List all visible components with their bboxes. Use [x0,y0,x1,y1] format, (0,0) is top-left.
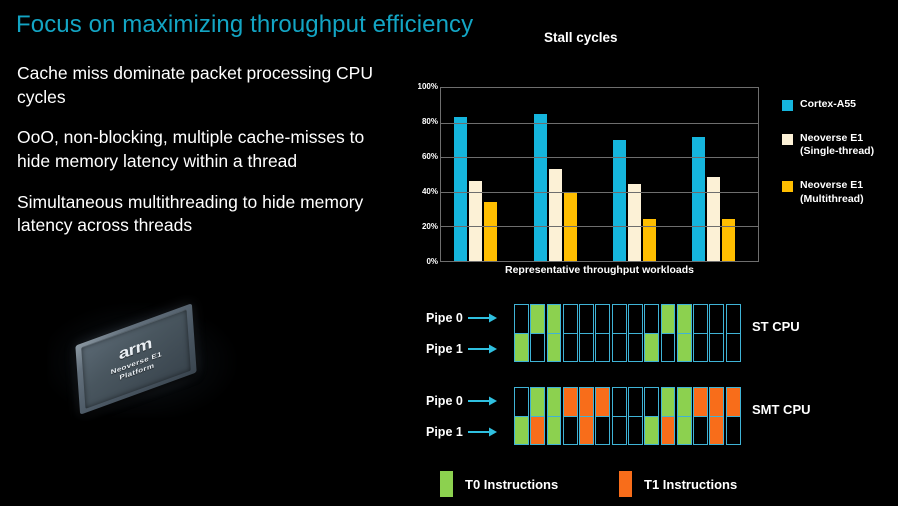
legend-label: Neoverse E1 (Multithread) [800,179,864,205]
pipeline-cell-pipe1 [564,334,577,362]
chart-y-tick-label: 100% [404,82,438,91]
pipeline-cell-column [628,387,643,445]
st-pipe1-label-row: Pipe 1 [426,333,512,364]
pipe-label: Pipe 0 [426,394,463,408]
chart-y-axis: 0%20%40%60%80%100% [404,87,438,262]
pipeline-cell-column [726,387,741,445]
chart-y-tick-label: 40% [404,187,438,196]
pipeline-cell-pipe0 [678,305,691,334]
bullet-item: Cache miss dominate packet processing CP… [17,62,389,109]
pipeline-cell-pipe1 [564,417,577,445]
pipeline-cell-pipe0 [629,305,642,334]
chart-bar [484,202,497,261]
pipeline-cell-pipe0 [727,305,740,334]
pipeline-cell-pipe0 [629,388,642,417]
pipeline-cell-pipe1 [710,334,723,362]
chart-bar [469,181,482,261]
smt-cpu-tag: SMT CPU [752,402,811,417]
chart-bar-group [520,88,599,261]
legend-label-line2: (Multithread) [800,193,864,206]
pipeline-cell-pipe1 [531,334,544,362]
pipeline-cell-pipe1 [629,334,642,362]
chart-legend: Cortex-A55 Neoverse E1 (Single-thread) N… [782,98,898,227]
pipeline-legend-item-t1: T1 Instructions [619,468,737,500]
pipeline-cell-pipe0 [727,388,740,417]
st-pipe-labels: Pipe 0 Pipe 1 [426,302,512,364]
pipeline-cell-column [514,304,529,362]
pipeline-cell-column [628,304,643,362]
chart-gridline [441,226,758,227]
legend-swatch-icon [619,471,632,497]
bullet-item: OoO, non-blocking, multiple cache-misses… [17,126,389,173]
pipeline-cell-column [709,387,724,445]
pipeline-cell-column [693,387,708,445]
pipeline-cell-pipe0 [515,388,528,417]
legend-label-line1: Neoverse E1 [800,179,864,192]
pipeline-cell-column [644,387,659,445]
chart-y-tick-label: 60% [404,152,438,161]
legend-label: Cortex-A55 [800,98,856,111]
pipeline-cell-column [579,304,594,362]
pipeline-diagrams: Pipe 0 Pipe 1 ST CPU Pipe 0 [404,296,898,461]
pipeline-cell-column [563,387,578,445]
pipeline-cell-pipe1 [645,334,658,362]
arrow-right-icon [468,343,498,355]
pipeline-cell-column [563,304,578,362]
chart-title: Stall cycles [544,30,618,45]
legend-label-line2: (Single-thread) [800,145,874,158]
pipe-label: Pipe 1 [426,342,463,356]
pipeline-cell-pipe1 [710,417,723,445]
smt-pipe1-label-row: Pipe 1 [426,416,512,447]
pipeline-cell-pipe1 [580,334,593,362]
pipeline-cell-pipe0 [531,305,544,334]
pipeline-cell-column [595,387,610,445]
pipeline-cell-pipe1 [727,334,740,362]
smt-cpu-pipeline: Pipe 0 Pipe 1 SMT CPU [404,385,898,447]
chart-bar-group [600,88,679,261]
pipeline-cell-pipe0 [548,388,561,417]
pipeline-cell-pipe0 [531,388,544,417]
pipeline-legend: T0 Instructions T1 Instructions [404,468,898,500]
pipeline-cell-pipe1 [580,417,593,445]
pipeline-cell-pipe1 [694,334,707,362]
chart-y-tick-label: 20% [404,222,438,231]
pipeline-cell-pipe1 [515,417,528,445]
pipeline-cell-column [677,304,692,362]
pipeline-cell-pipe1 [662,417,675,445]
pipeline-cell-pipe1 [596,417,609,445]
pipeline-cell-pipe1 [613,334,626,362]
pipeline-cell-pipe1 [694,417,707,445]
chart-bar-group [679,88,758,261]
chart-y-tick-label: 0% [404,257,438,266]
pipeline-cell-pipe0 [548,305,561,334]
pipeline-cell-column [612,387,627,445]
pipeline-cell-pipe0 [596,388,609,417]
pipeline-cell-column [693,304,708,362]
pipeline-cell-column [530,304,545,362]
pipe-label: Pipe 1 [426,425,463,439]
pipeline-cell-pipe1 [727,417,740,445]
pipeline-cell-pipe1 [548,417,561,445]
bullet-list: Cache miss dominate packet processing CP… [17,62,389,255]
pipeline-cell-pipe0 [710,388,723,417]
pipeline-cell-column [595,304,610,362]
arrow-right-icon [468,426,498,438]
pipeline-cell-pipe0 [662,305,675,334]
pipeline-cell-column [530,387,545,445]
smt-pipe-labels: Pipe 0 Pipe 1 [426,385,512,447]
chart-bar [628,184,641,261]
chart-y-tick-label: 80% [404,117,438,126]
legend-swatch-icon [782,181,793,192]
chart-bars [441,88,758,261]
stall-cycles-chart: Stall cycles 0%20%40%60%80%100% Represen… [404,28,898,258]
pipeline-cell-column [547,304,562,362]
chart-gridline [441,157,758,158]
legend-label-line1: Cortex-A55 [800,98,856,111]
pipeline-cell-pipe1 [515,334,528,362]
chart-bar [534,114,547,261]
chart-bar [454,117,467,261]
legend-item-neoverse-e1-single-thread: Neoverse E1 (Single-thread) [782,132,898,158]
pipeline-cell-column [579,387,594,445]
pipeline-cell-pipe0 [694,305,707,334]
pipeline-cell-pipe1 [596,334,609,362]
bullet-item: Simultaneous multithreading to hide memo… [17,191,389,238]
pipe-label: Pipe 0 [426,311,463,325]
pipeline-cell-pipe0 [564,388,577,417]
pipeline-cell-pipe1 [645,417,658,445]
st-pipeline-cells [514,304,742,362]
legend-label-line1: Neoverse E1 [800,132,874,145]
chart-bar [707,177,720,261]
legend-swatch-icon [782,100,793,111]
chart-plot-area [440,87,759,262]
pipeline-cell-column [709,304,724,362]
st-pipe0-label-row: Pipe 0 [426,302,512,333]
arrow-right-icon [468,312,498,324]
pipeline-cell-pipe0 [710,305,723,334]
st-cpu-tag: ST CPU [752,319,800,334]
pipeline-cell-pipe0 [564,305,577,334]
smt-pipeline-cells [514,387,742,445]
pipeline-cell-pipe0 [613,305,626,334]
pipeline-cell-pipe0 [662,388,675,417]
pipeline-cell-pipe0 [678,388,691,417]
chart-bar-group [441,88,520,261]
pipeline-cell-pipe1 [678,334,691,362]
legend-label: Neoverse E1 (Single-thread) [800,132,874,158]
pipeline-cell-pipe1 [548,334,561,362]
legend-swatch-icon [440,471,453,497]
chart-bar [692,137,705,261]
slide-root: Focus on maximizing throughput efficienc… [0,0,898,506]
st-cpu-pipeline: Pipe 0 Pipe 1 ST CPU [404,302,898,364]
pipeline-cell-pipe0 [515,305,528,334]
smt-pipe0-label-row: Pipe 0 [426,385,512,416]
pipeline-cell-column [547,387,562,445]
chart-x-axis-label: Representative throughput workloads [440,264,759,276]
pipeline-cell-pipe0 [645,388,658,417]
legend-item-cortex-a55: Cortex-A55 [782,98,898,111]
pipeline-cell-pipe1 [531,417,544,445]
pipeline-cell-pipe0 [645,305,658,334]
pipeline-cell-pipe0 [580,388,593,417]
pipeline-cell-column [661,387,676,445]
chart-bar [643,219,656,261]
pipeline-cell-column [612,304,627,362]
chart-gridline [441,123,758,124]
pipeline-cell-column [644,304,659,362]
chart-gridline [441,192,758,193]
pipeline-cell-pipe1 [662,334,675,362]
pipeline-cell-pipe1 [629,417,642,445]
pipeline-cell-column [514,387,529,445]
legend-label: T1 Instructions [644,477,737,492]
legend-label: T0 Instructions [465,477,558,492]
pipeline-cell-pipe0 [596,305,609,334]
pipeline-cell-pipe1 [678,417,691,445]
pipeline-cell-column [726,304,741,362]
pipeline-cell-column [661,304,676,362]
legend-swatch-icon [782,134,793,145]
pipeline-legend-item-t0: T0 Instructions [440,468,558,500]
neoverse-chip-image: arm Neoverse E1 Platform [48,302,238,417]
legend-item-neoverse-e1-multithread: Neoverse E1 (Multithread) [782,179,898,205]
pipeline-cell-pipe0 [580,305,593,334]
chart-bar [549,169,562,261]
pipeline-cell-pipe0 [694,388,707,417]
pipeline-cell-pipe0 [613,388,626,417]
arrow-right-icon [468,395,498,407]
pipeline-cell-column [677,387,692,445]
pipeline-cell-pipe1 [613,417,626,445]
